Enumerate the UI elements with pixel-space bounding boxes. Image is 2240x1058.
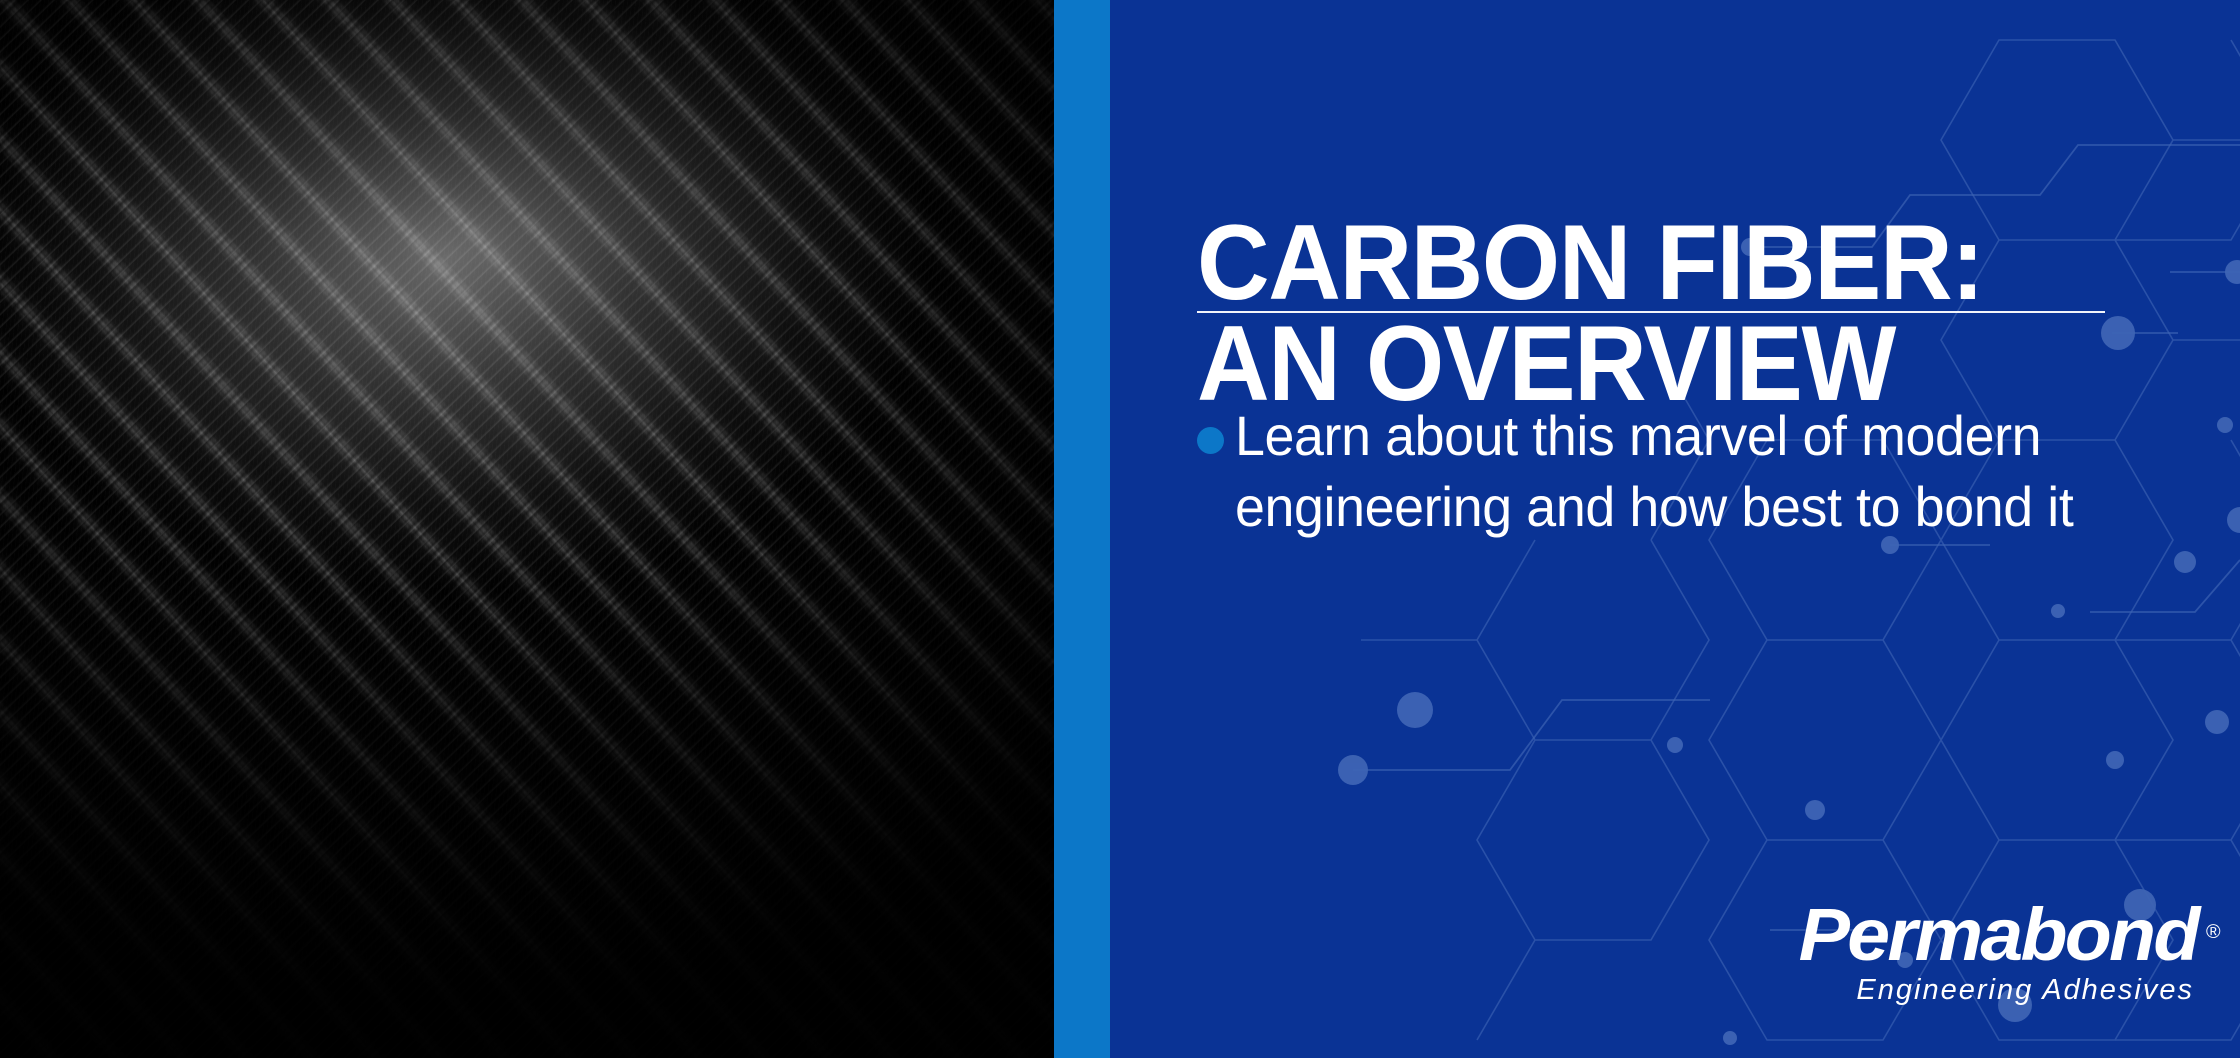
carbon-vignette	[0, 0, 1054, 1058]
title-divider-rule	[1197, 311, 2105, 313]
accent-divider-stripe	[1054, 0, 1110, 1058]
content-panel: CARBON FIBER: AN OVERVIEW Learn about th…	[1110, 0, 2240, 1058]
page-title: CARBON FIBER: AN OVERVIEW	[1197, 212, 2071, 414]
logo-tagline: Engineering Adhesives	[1814, 974, 2194, 1006]
carbon-fiber-image	[0, 0, 1054, 1058]
permabond-logo: Permabond® Engineering Adhesives	[1814, 898, 2198, 1006]
bullet-list: Learn about this marvel of modern engine…	[1197, 400, 2147, 542]
bullet-item-label: Learn about this marvel of modern engine…	[1235, 400, 2111, 542]
registered-trademark-icon: ®	[2206, 896, 2221, 970]
bullet-dot-icon	[1197, 427, 1224, 454]
list-item: Learn about this marvel of modern engine…	[1197, 400, 2147, 542]
slide-canvas: CARBON FIBER: AN OVERVIEW Learn about th…	[0, 0, 2240, 1058]
logo-wordmark: Permabond®	[1799, 898, 2198, 972]
content-stack: CARBON FIBER: AN OVERVIEW Learn about th…	[1197, 0, 2240, 1058]
